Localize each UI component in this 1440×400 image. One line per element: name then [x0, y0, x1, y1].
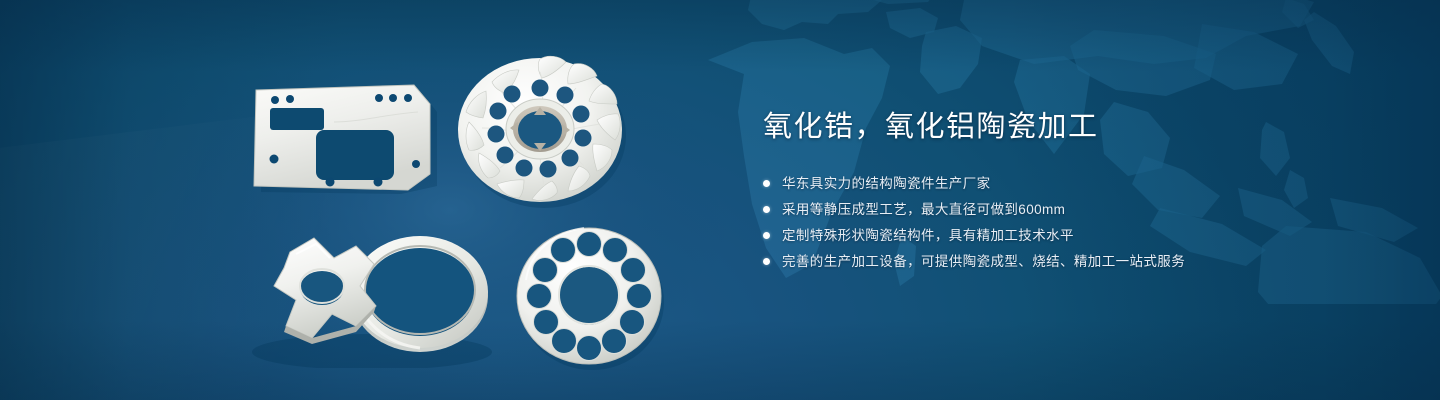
hero-banner: 氧化锆，氧化铝陶瓷加工 华东具实力的结构陶瓷件生产厂家 采用等静压成型工艺，最大…: [0, 0, 1440, 400]
feature-text: 定制特殊形状陶瓷结构件，具有精加工技术水平: [782, 226, 1074, 245]
bullet-dot-icon: [763, 180, 770, 187]
ceramic-impeller: [452, 50, 630, 210]
page-title: 氧化锆，氧化铝陶瓷加工: [763, 108, 1383, 146]
feature-text: 采用等静压成型工艺，最大直径可做到600mm: [782, 200, 1065, 219]
banner-copy: 氧化锆，氧化铝陶瓷加工 华东具实力的结构陶瓷件生产厂家 采用等静压成型工艺，最大…: [763, 108, 1383, 278]
feature-list: 华东具实力的结构陶瓷件生产厂家 采用等静压成型工艺，最大直径可做到600mm 定…: [763, 174, 1383, 271]
list-item: 采用等静压成型工艺，最大直径可做到600mm: [763, 200, 1383, 219]
list-item: 完善的生产加工设备，可提供陶瓷成型、烧结、精加工一站式服务: [763, 252, 1383, 271]
bullet-dot-icon: [763, 206, 770, 213]
feature-text: 完善的生产加工设备，可提供陶瓷成型、烧结、精加工一站式服务: [782, 252, 1185, 271]
feature-text: 华东具实力的结构陶瓷件生产厂家: [782, 174, 991, 193]
ceramic-hole-disc: [512, 222, 668, 372]
bullet-dot-icon: [763, 258, 770, 265]
bullet-dot-icon: [763, 232, 770, 239]
list-item: 华东具实力的结构陶瓷件生产厂家: [763, 174, 1383, 193]
ceramic-cross-plate: [252, 228, 502, 368]
product-photo-group: [0, 0, 740, 400]
list-item: 定制特殊形状陶瓷结构件，具有精加工技术水平: [763, 226, 1383, 245]
ceramic-base-plate: [248, 78, 438, 198]
